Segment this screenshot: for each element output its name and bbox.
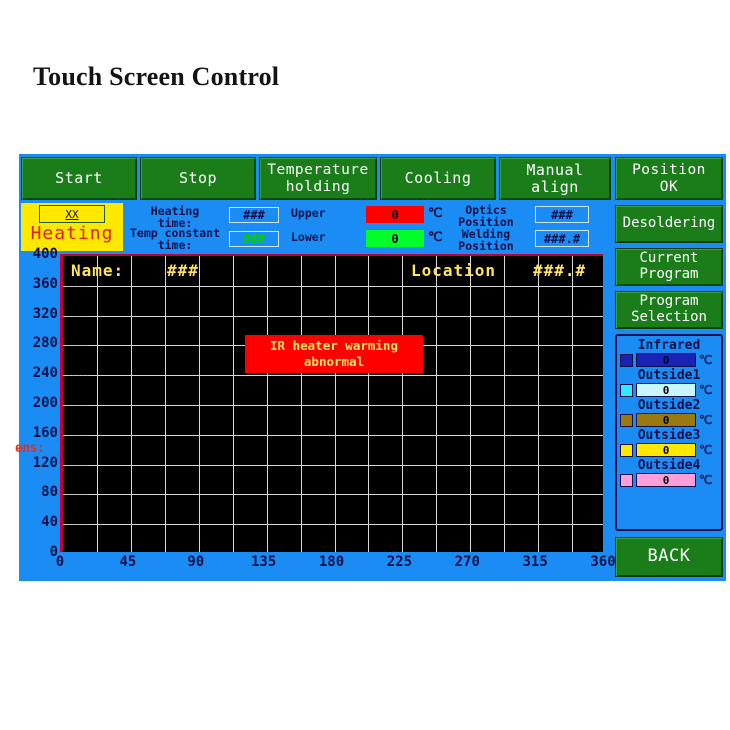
lower-temp-label: Lower <box>291 231 357 243</box>
legend-row: 0℃ <box>620 383 721 397</box>
legend-value-field[interactable]: 0 <box>636 473 696 487</box>
welding-position-field[interactable]: ###.# <box>535 230 589 247</box>
y-tick-stub <box>63 435 89 436</box>
x-axis-tick-label: 180 <box>319 554 344 570</box>
grid-vline <box>368 256 369 552</box>
x-axis-tick-label: 0 <box>56 554 64 570</box>
legend-label-outside4: Outside4 <box>617 459 721 472</box>
x-axis-tick-label: 135 <box>251 554 276 570</box>
manual-align-button[interactable]: Manual align <box>499 157 611 200</box>
y-axis-tick-label: 280 <box>33 335 58 351</box>
program-selection-button[interactable]: Program Selection <box>615 291 723 329</box>
location-label: Location <box>411 261 496 280</box>
grid-hline <box>63 524 603 525</box>
legend-color-swatch <box>620 414 633 427</box>
legend-label-outside2: Outside2 <box>617 399 721 412</box>
grid-vline <box>165 256 166 552</box>
legend-color-swatch <box>620 354 633 367</box>
grid-hline <box>63 316 603 317</box>
y-tick-stub <box>63 375 89 376</box>
grid-hline <box>63 494 603 495</box>
grid-vline <box>572 256 573 552</box>
heating-time-field[interactable]: ### <box>229 207 279 223</box>
y-tick-stub <box>63 494 89 495</box>
legend-color-swatch <box>620 384 633 397</box>
plot-area: Name: ### Location ###.# IR heater warmi… <box>60 254 603 552</box>
grid-vline <box>538 256 539 552</box>
legend-color-swatch <box>620 444 633 457</box>
lower-temp-field[interactable]: 0 <box>366 230 424 247</box>
upper-degree-unit: ℃ <box>428 206 443 221</box>
y-tick-stub <box>63 405 89 406</box>
start-button[interactable]: Start <box>21 157 137 200</box>
optics-position-label: Optics Position <box>444 204 528 228</box>
grid-hline <box>63 286 603 287</box>
legend-value-field[interactable]: 0 <box>636 443 696 457</box>
temp-constant-time-field[interactable]: ### <box>229 231 279 247</box>
grid-vline <box>335 256 336 552</box>
location-value[interactable]: ###.# <box>533 261 586 280</box>
grid-hline <box>63 405 603 406</box>
alarm-line-2: abnormal <box>304 354 364 370</box>
grid-vline <box>267 256 268 552</box>
mode-code-field[interactable]: XX <box>39 205 105 223</box>
x-axis-tick-label: 315 <box>522 554 547 570</box>
stop-button[interactable]: Stop <box>140 157 256 200</box>
y-axis: ens: 04080120160200240280320360400 <box>19 254 60 552</box>
grid-vline <box>504 256 505 552</box>
y-axis-tick-label: 400 <box>33 246 58 262</box>
grid-vline <box>199 256 200 552</box>
grid-vline <box>233 256 234 552</box>
legend-value-field[interactable]: 0 <box>636 413 696 427</box>
legend-degree-unit: ℃ <box>699 443 712 457</box>
upper-temp-label: Upper <box>291 207 357 219</box>
legend-color-swatch <box>620 474 633 487</box>
y-axis-tick-label: 360 <box>33 276 58 292</box>
upper-temp-field[interactable]: 0 <box>366 206 424 223</box>
y-tick-stub <box>63 465 89 466</box>
temperature-chart: ens: 04080120160200240280320360400 Name:… <box>19 254 611 576</box>
welding-position-label: Welding Position <box>444 228 528 252</box>
current-program-button[interactable]: Current Program <box>615 248 723 286</box>
y-axis-tick-label: 320 <box>33 306 58 322</box>
y-axis-tick-label: 40 <box>41 514 58 530</box>
legend-label-infrared: Infrared <box>617 339 721 352</box>
y-tick-stub <box>63 286 89 287</box>
y-axis-tick-label: 160 <box>33 425 58 441</box>
legend-label-outside3: Outside3 <box>617 429 721 442</box>
name-value[interactable]: ### <box>167 261 199 280</box>
hmi-panel: Start Stop Temperature holding Cooling M… <box>19 154 726 581</box>
legend-row: 0℃ <box>620 413 721 427</box>
channel-legend: Infrared0℃Outside10℃Outside20℃Outside30℃… <box>615 334 723 531</box>
legend-row: 0℃ <box>620 353 721 367</box>
heating-status-box: XX Heating <box>21 203 123 251</box>
legend-value-field[interactable]: 0 <box>636 353 696 367</box>
x-axis-tick-label: 225 <box>387 554 412 570</box>
grid-vline <box>301 256 302 552</box>
legend-degree-unit: ℃ <box>699 353 712 367</box>
y-tick-stub <box>63 316 89 317</box>
optics-position-field[interactable]: ### <box>535 206 589 223</box>
y-tick-stub <box>63 524 89 525</box>
back-button[interactable]: BACK <box>615 537 723 577</box>
x-axis: 04590135180225270315360 <box>60 554 603 576</box>
x-axis-tick-label: 360 <box>590 554 615 570</box>
alarm-line-1: IR heater warming <box>270 338 398 354</box>
x-axis-tick-label: 270 <box>455 554 480 570</box>
lower-degree-unit: ℃ <box>428 230 443 245</box>
grid-vline <box>97 256 98 552</box>
x-axis-tick-label: 90 <box>187 554 204 570</box>
y-axis-tick-label: 240 <box>33 365 58 381</box>
legend-value-field[interactable]: 0 <box>636 383 696 397</box>
temp-constant-time-label: Temp constant time: <box>123 227 227 251</box>
legend-degree-unit: ℃ <box>699 473 712 487</box>
grid-hline <box>63 435 603 436</box>
legend-degree-unit: ℃ <box>699 383 712 397</box>
grid-hline <box>63 375 603 376</box>
legend-row: 0℃ <box>620 443 721 457</box>
status-strip: XX Heating Heating time: ### Temp consta… <box>19 203 611 253</box>
y-axis-tick-label: 120 <box>33 455 58 471</box>
desoldering-button[interactable]: Desoldering <box>615 205 723 243</box>
y-axis-tick-label: 200 <box>33 395 58 411</box>
grid-vline <box>131 256 132 552</box>
grid-vline <box>436 256 437 552</box>
y-tick-stub <box>63 345 89 346</box>
grid-vline <box>470 256 471 552</box>
page-title: Touch Screen Control <box>33 62 279 92</box>
y-axis-tick-label: 80 <box>41 484 58 500</box>
plot-header: Name: ### Location ###.# <box>63 256 603 284</box>
x-axis-tick-label: 45 <box>119 554 136 570</box>
position-ok-button[interactable]: Position OK <box>615 157 723 200</box>
mode-label: Heating <box>31 223 114 244</box>
cooling-button[interactable]: Cooling <box>380 157 496 200</box>
grid-hline <box>63 465 603 466</box>
temperature-holding-button[interactable]: Temperature holding <box>259 157 377 200</box>
legend-degree-unit: ℃ <box>699 413 712 427</box>
name-label: Name: <box>71 261 124 280</box>
alarm-banner: IR heater warming abnormal <box>245 335 423 373</box>
grid-vline <box>402 256 403 552</box>
legend-label-outside1: Outside1 <box>617 369 721 382</box>
legend-row: 0℃ <box>620 473 721 487</box>
